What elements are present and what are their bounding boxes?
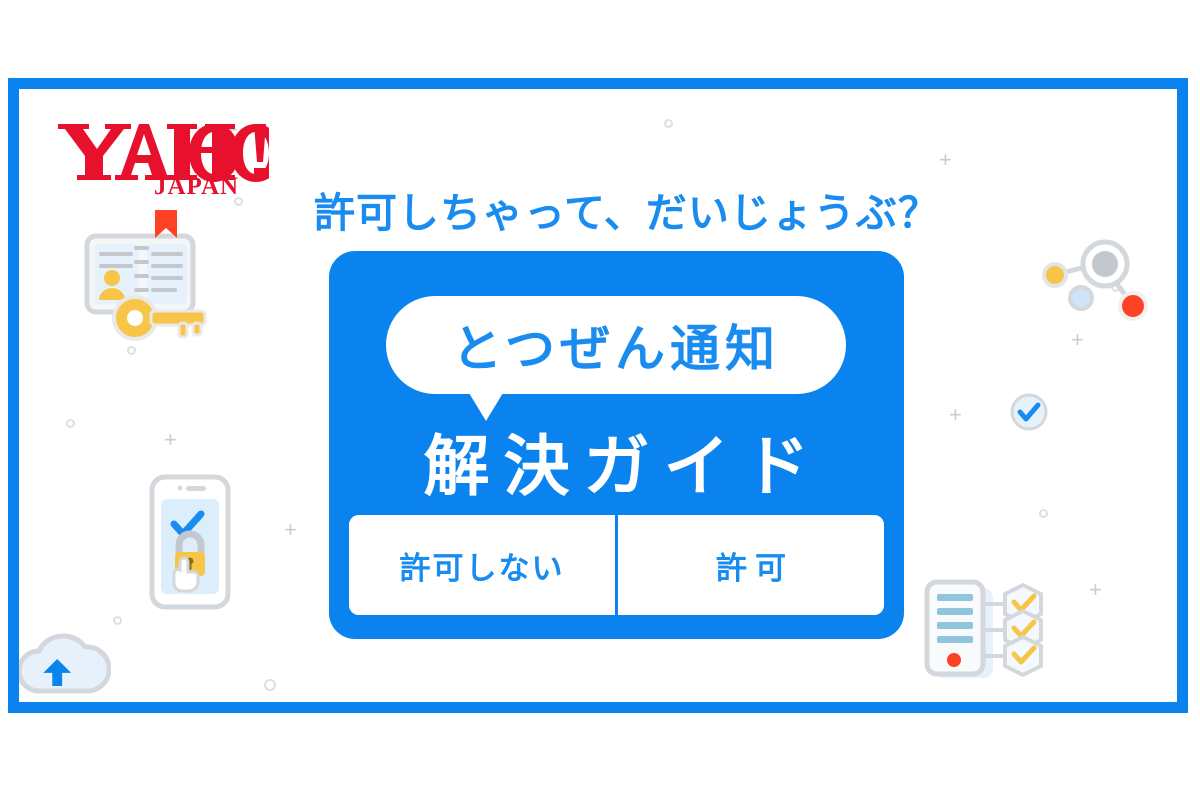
- page-headline: 許可しちゃって、だいじょうぶ？: [314, 179, 940, 239]
- main-card: とつぜん通知 解決ガイド 許可しない 許可: [329, 251, 904, 639]
- plus-speck-icon: +: [1089, 579, 1102, 601]
- ring-speck-icon: [1039, 509, 1048, 518]
- network-nodes-icon: [1019, 234, 1159, 349]
- plus-speck-icon: +: [164, 429, 177, 451]
- ring-speck-icon: [664, 119, 673, 128]
- card-title: 解決ガイド: [329, 413, 904, 509]
- ring-speck-icon: [113, 616, 122, 625]
- plus-speck-icon: +: [939, 149, 952, 171]
- smartphone-lock-tap-icon: [149, 474, 231, 615]
- deny-button[interactable]: 許可しない: [349, 515, 615, 615]
- permission-button-group: 許可しない 許可: [349, 515, 884, 615]
- plus-speck-icon: +: [949, 404, 962, 426]
- ring-speck-icon: [127, 346, 136, 355]
- ring-speck-icon: [66, 419, 75, 428]
- cloud-upload-icon: [19, 629, 111, 702]
- yahoo-japan-logo: JAPAN: [41, 116, 269, 196]
- svg-text:JAPAN: JAPAN: [154, 173, 239, 196]
- contacts-book-key-icon: [79, 204, 207, 347]
- banner-frame: + + + + + + + + +: [8, 78, 1188, 713]
- server-data-blocks-icon: [919, 574, 1055, 695]
- banner-stage: + + + + + + + + +: [19, 89, 1177, 702]
- plus-speck-icon: +: [284, 519, 297, 541]
- notification-pill: とつぜん通知: [386, 296, 846, 394]
- ring-speck-icon: [234, 197, 243, 206]
- allow-button[interactable]: 許可: [615, 515, 884, 615]
- check-circle-icon: [1009, 392, 1049, 437]
- notification-pill-label: とつぜん通知: [452, 309, 780, 381]
- ring-speck-icon: [264, 679, 276, 691]
